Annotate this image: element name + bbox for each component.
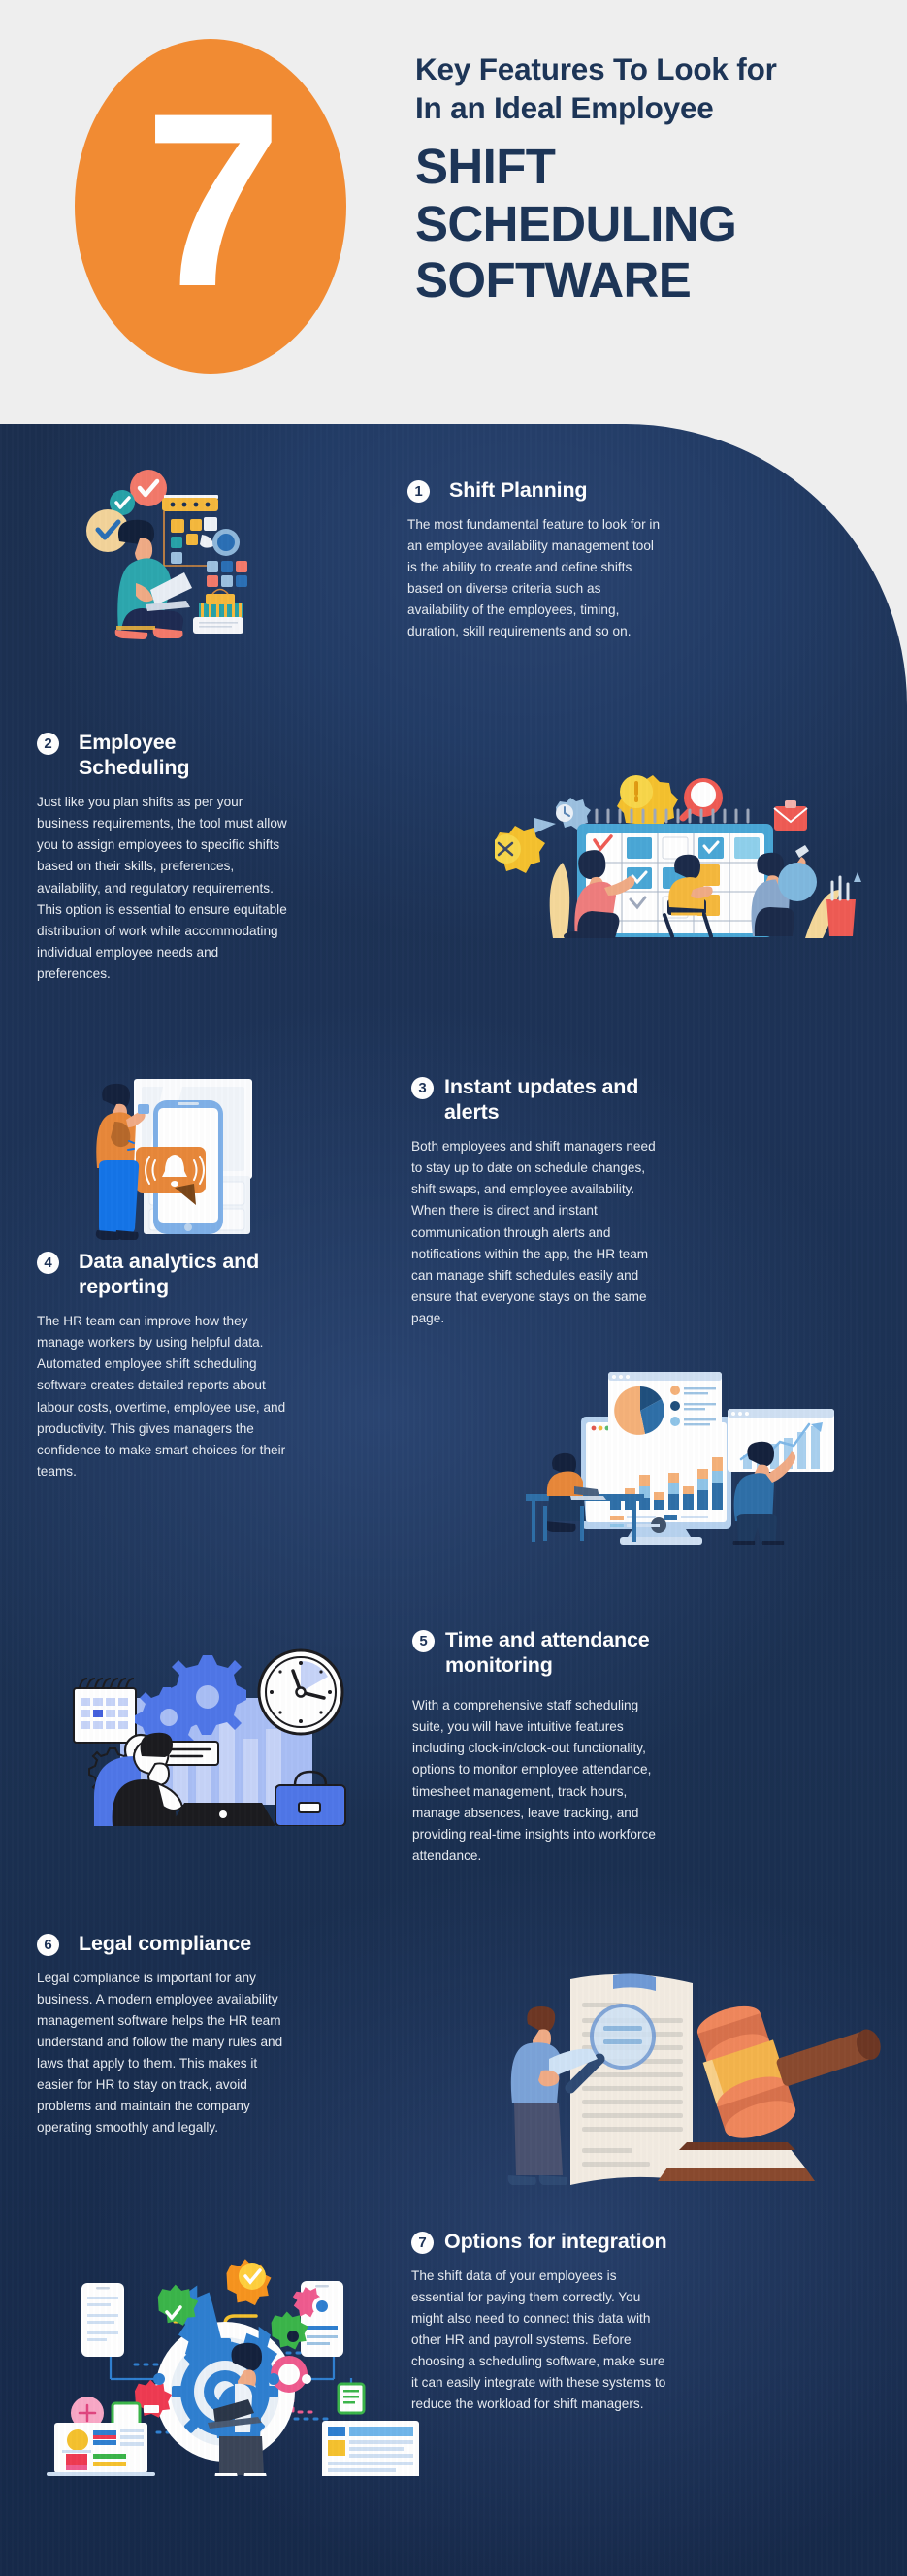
header-banner: 7 Key Features To Look for In an Ideal E… — [0, 0, 907, 427]
feature-text-5: 5 Time and attendance monitoring With a … — [412, 1627, 672, 1867]
illustration-shift-planning — [60, 461, 269, 640]
page-title: SHIFT SCHEDULING SOFTWARE — [415, 139, 871, 308]
feature-title-6: Legal compliance — [79, 1931, 251, 1956]
feature-heading-1: 1 Shift Planning — [407, 477, 662, 503]
feature-body-4: The HR team can improve how they manage … — [37, 1311, 295, 1482]
features-panel: 1 Shift Planning The most fundamental fe… — [0, 424, 907, 2576]
feature-text-4: 4 Data analytics and reporting The HR te… — [37, 1249, 295, 1483]
infographic-root: 7 Key Features To Look for In an Ideal E… — [0, 0, 907, 2576]
header-text-block: Key Features To Look for In an Ideal Emp… — [415, 50, 871, 309]
feature-text-6: 6 Legal compliance Legal compliance is i… — [37, 1931, 295, 2138]
illustration-legal-compliance — [506, 1933, 885, 2185]
feature-text-2: 2 Employee Scheduling Just like you plan… — [37, 730, 291, 985]
feature-title-2: Employee Scheduling — [79, 730, 291, 780]
feature-heading-4: 4 Data analytics and reporting — [37, 1249, 295, 1299]
feature-heading-2: 2 Employee Scheduling — [37, 730, 291, 780]
feature-text-1: 1 Shift Planning The most fundamental fe… — [407, 477, 662, 642]
feature-heading-3: 3 Instant updates and alerts — [411, 1074, 669, 1125]
feature-number-badge-3: 3 — [411, 1077, 434, 1099]
feature-heading-7: 7 Options for integration — [411, 2229, 671, 2254]
feature-title-1: Shift Planning — [449, 477, 587, 503]
feature-body-7: The shift data of your employees is esse… — [411, 2266, 671, 2415]
number-seven-badge: 7 — [75, 39, 346, 374]
feature-number-badge-6: 6 — [37, 1934, 59, 1956]
number-seven-text: 7 — [145, 102, 276, 300]
feature-text-7: 7 Options for integration The shift data… — [411, 2229, 671, 2415]
page-title-line-3: SOFTWARE — [415, 252, 871, 309]
illustration-time-attendance — [60, 1642, 371, 1826]
feature-text-3: 3 Instant updates and alerts Both employ… — [411, 1074, 669, 1329]
feature-title-4: Data analytics and reporting — [79, 1249, 295, 1299]
feature-body-2: Just like you plan shifts as per your bu… — [37, 792, 291, 984]
illustration-employee-scheduling — [495, 764, 883, 938]
page-title-line-1: SHIFT — [415, 139, 871, 195]
feature-number-badge-4: 4 — [37, 1252, 59, 1274]
feature-title-7: Options for integration — [444, 2229, 666, 2254]
feature-body-1: The most fundamental feature to look for… — [407, 514, 662, 642]
feature-number-badge-5: 5 — [412, 1630, 435, 1652]
illustration-instant-alerts — [70, 1060, 281, 1244]
page-title-line-2: SCHEDULING — [415, 196, 871, 252]
header-kicker-line-1: Key Features To Look for — [415, 50, 871, 89]
feature-heading-6: 6 Legal compliance — [37, 1931, 295, 1956]
feature-title-5: Time and attendance monitoring — [445, 1627, 672, 1678]
feature-body-6: Legal compliance is important for any bu… — [37, 1968, 295, 2138]
feature-body-3: Both employees and shift managers need t… — [411, 1136, 669, 1328]
feature-number-badge-7: 7 — [411, 2232, 434, 2254]
feature-number-badge-2: 2 — [37, 733, 59, 755]
feature-title-3: Instant updates and alerts — [444, 1074, 669, 1125]
feature-body-5: With a comprehensive staff scheduling su… — [412, 1695, 672, 1866]
header-kicker-line-2: In an Ideal Employee — [415, 89, 871, 128]
illustration-data-analytics — [526, 1351, 871, 1545]
feature-number-badge-1: 1 — [407, 480, 430, 503]
feature-heading-5: 5 Time and attendance monitoring — [412, 1627, 672, 1678]
illustration-integration — [43, 2229, 421, 2476]
